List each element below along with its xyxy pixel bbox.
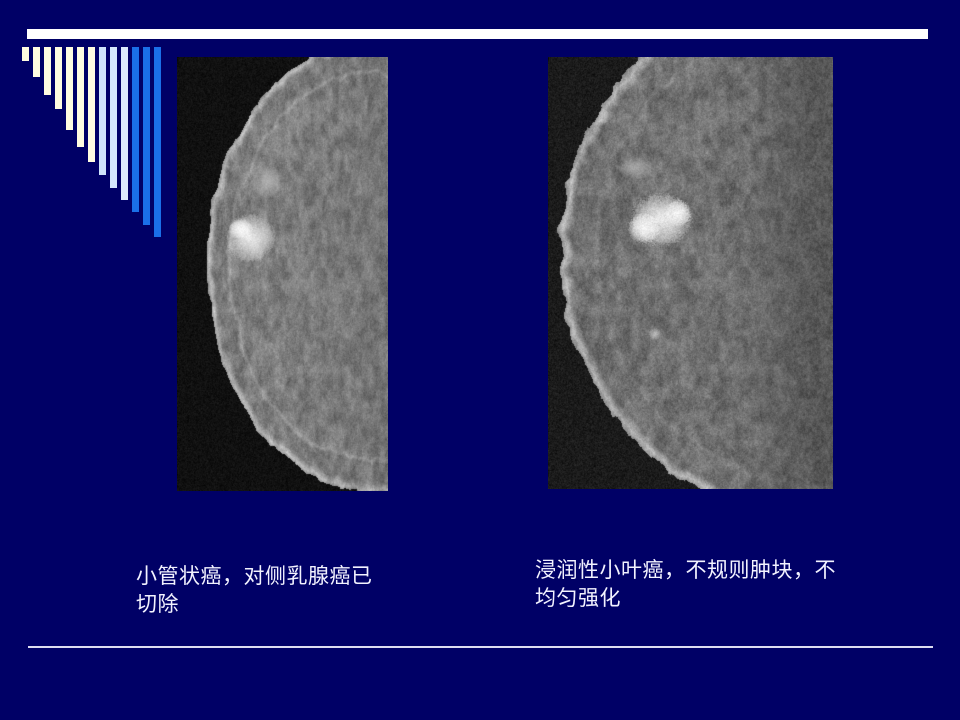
top-rule-decoration — [27, 29, 928, 39]
caption-right-scan: 浸润性小叶癌，不规则肿块，不 均匀强化 — [535, 556, 865, 612]
deco-bar-8 — [99, 47, 106, 175]
breast-mri-left-image — [177, 57, 388, 491]
deco-bar-13 — [154, 47, 161, 237]
deco-bar-5 — [66, 47, 73, 130]
deco-bar-6 — [77, 47, 84, 147]
bottom-rule-decoration — [28, 646, 933, 648]
deco-bar-2 — [33, 47, 40, 77]
deco-bar-9 — [110, 47, 117, 188]
staircase-bars-decoration — [22, 47, 167, 202]
breast-mri-left-canvas — [177, 57, 388, 491]
deco-bar-11 — [132, 47, 139, 212]
caption-left-scan: 小管状癌，对侧乳腺癌已 切除 — [136, 562, 426, 618]
deco-bar-3 — [44, 47, 51, 95]
breast-mri-right-image — [548, 57, 833, 489]
deco-bar-10 — [121, 47, 128, 200]
breast-mri-right-canvas — [548, 57, 833, 489]
deco-bar-7 — [88, 47, 95, 162]
slide-canvas: 小管状癌，对侧乳腺癌已 切除 浸润性小叶癌，不规则肿块，不 均匀强化 — [0, 0, 960, 720]
deco-bar-12 — [143, 47, 150, 225]
deco-bar-4 — [55, 47, 62, 109]
deco-bar-1 — [22, 47, 29, 61]
